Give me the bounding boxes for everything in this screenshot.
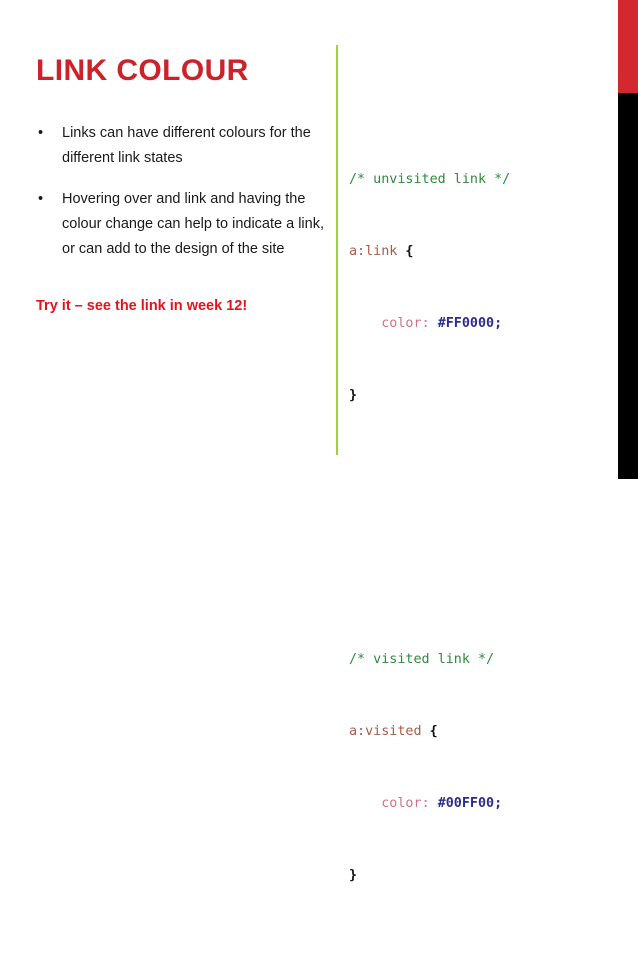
code-selector-line: a:visited {: [349, 720, 607, 744]
slide-content-left: LINK COLOUR • Links can have different c…: [36, 54, 326, 316]
list-item: • Links can have different colours for t…: [36, 121, 326, 171]
code-close-brace-line: }: [349, 864, 607, 888]
bullet-text: Links can have different colours for the…: [62, 125, 311, 166]
code-value: #00FF00: [438, 796, 494, 811]
page-title: LINK COLOUR: [36, 54, 326, 87]
call-to-action-text: Try it – see the link in week 12!: [36, 296, 326, 316]
edge-accent-bar-red: [618, 0, 638, 93]
code-selector: a:visited: [349, 724, 422, 739]
bullet-marker-icon: •: [38, 187, 43, 212]
code-declaration-line: color: #FF0000;: [349, 312, 607, 336]
code-declaration-line: color: #00FF00;: [349, 792, 607, 816]
list-item: • Hovering over and link and having the …: [36, 187, 326, 262]
code-comment-line: /* visited link */: [349, 648, 607, 672]
code-separator: :: [422, 796, 438, 811]
code-comment-line: /* unvisited link */: [349, 168, 607, 192]
code-comment: /* visited link */: [349, 652, 494, 667]
code-open-brace: {: [397, 244, 413, 259]
code-rule-block: /* visited link */ a:visited { color: #0…: [349, 600, 607, 936]
code-comment: /* unvisited link */: [349, 172, 510, 187]
code-close-brace: }: [349, 388, 357, 403]
code-indent: [349, 796, 381, 811]
code-selector: a:link: [349, 244, 397, 259]
edge-accent-bar-black: [618, 93, 638, 479]
code-indent: [349, 316, 381, 331]
code-semicolon: ;: [494, 316, 502, 331]
code-close-brace-line: }: [349, 384, 607, 408]
code-snippet: /* unvisited link */ a:link { color: #FF…: [349, 48, 607, 958]
bullet-marker-icon: •: [38, 121, 43, 146]
code-accent-rule: [336, 45, 338, 455]
slide-canvas: LINK COLOUR • Links can have different c…: [0, 0, 638, 479]
code-close-brace: }: [349, 868, 357, 883]
code-open-brace: {: [422, 724, 438, 739]
code-blank-line: [349, 504, 607, 528]
code-rule-block: /* unvisited link */ a:link { color: #FF…: [349, 120, 607, 456]
code-selector-line: a:link {: [349, 240, 607, 264]
code-property: color: [381, 796, 421, 811]
bullet-text: Hovering over and link and having the co…: [62, 191, 324, 257]
code-property: color: [381, 316, 421, 331]
code-semicolon: ;: [494, 796, 502, 811]
code-value: #FF0000: [438, 316, 494, 331]
bullet-list: • Links can have different colours for t…: [36, 121, 326, 262]
code-separator: :: [422, 316, 438, 331]
